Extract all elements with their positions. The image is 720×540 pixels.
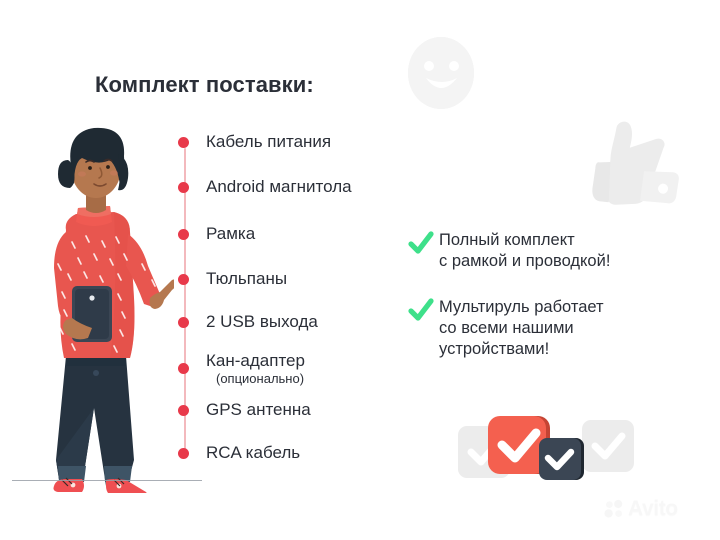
list-item-label: Рамка: [206, 224, 255, 244]
list-item-label: GPS антенна: [206, 400, 311, 420]
list-item-label: RCA кабель: [206, 443, 300, 463]
thumbs-up-icon: [580, 112, 680, 214]
green-checkmark-icon: [408, 230, 434, 256]
bullet-dot-icon: [178, 448, 189, 459]
avito-watermark: Avito: [604, 497, 678, 521]
promo-image: Комплект поставки:: [0, 0, 720, 540]
bullet-dot-icon: [178, 405, 189, 416]
bullet-dot-icon: [178, 317, 189, 328]
ground-line: [12, 480, 202, 481]
list-item: Кабель питания: [178, 132, 428, 154]
list-item: Android магнитола: [178, 177, 428, 199]
feature-item: Полный комплект с рамкой и проводкой!: [408, 230, 610, 272]
list-item: Рамка: [178, 224, 428, 246]
avito-logo-icon: [604, 499, 624, 519]
green-checkmark-icon: [408, 297, 434, 323]
woman-illustration: [14, 108, 174, 493]
list-item: GPS антенна: [178, 400, 428, 422]
list-item-label: Кабель питания: [206, 132, 331, 152]
smiley-face-icon: [406, 36, 476, 110]
list-item-label: Тюльпаны: [206, 269, 287, 289]
feature-text: Полный комплект с рамкой и проводкой!: [439, 230, 610, 272]
list-item: Кан-адаптер(опционально): [178, 351, 428, 373]
bullet-dot-icon: [178, 274, 189, 285]
bullet-dot-icon: [178, 229, 189, 240]
list-item-sublabel: (опционально): [216, 371, 304, 386]
list-item-label: 2 USB выхода: [206, 312, 318, 332]
bullet-dot-icon: [178, 363, 189, 374]
feature-text: Мультируль работает со всеми нашими устр…: [439, 297, 604, 360]
feature-item: Мультируль работает со всеми нашими устр…: [408, 297, 604, 360]
avito-watermark-text: Avito: [628, 497, 678, 521]
list-item-label: Кан-адаптер: [206, 351, 305, 371]
list-item-label: Android магнитола: [206, 177, 352, 197]
list-item: RCA кабель: [178, 443, 428, 465]
bullet-dot-icon: [178, 137, 189, 148]
bullet-dot-icon: [178, 182, 189, 193]
list-item: 2 USB выхода: [178, 312, 428, 334]
checkbox-group-icon: [458, 412, 634, 484]
page-title: Комплект поставки:: [95, 72, 314, 98]
list-item: Тюльпаны: [178, 269, 428, 291]
